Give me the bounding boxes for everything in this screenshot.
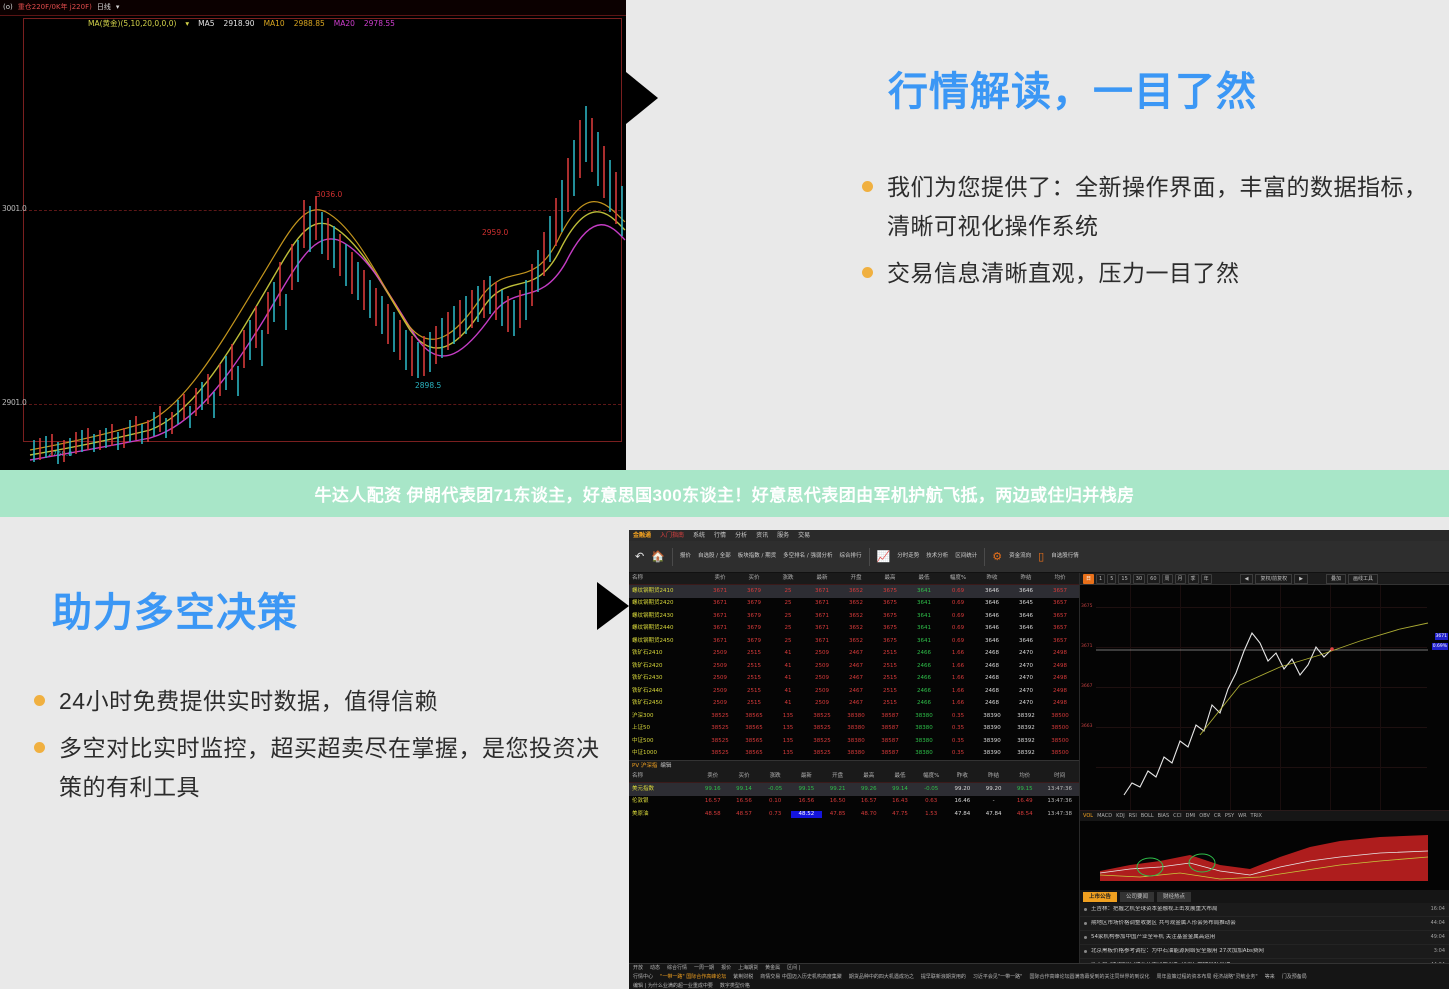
nav-next-icon[interactable]: ▶ bbox=[1294, 574, 1308, 584]
news-title[interactable]: 王吉林：把握之机全球资本金融视上击发展重大布局 bbox=[1091, 906, 1431, 913]
cell: 2515 bbox=[737, 663, 771, 670]
chart-news-panel[interactable]: 日15153060周月季年 ◀ 复权/前复权 ▶ 叠加 画线工具 3675 bbox=[1079, 573, 1449, 989]
cell: 3641 bbox=[907, 613, 941, 620]
cell: 0.35 bbox=[941, 713, 975, 720]
timeframe-button[interactable]: 周 bbox=[1162, 574, 1173, 584]
col-last: 最新 bbox=[791, 773, 822, 780]
cell: 13:47:36 bbox=[1040, 798, 1079, 805]
cell: 99.26 bbox=[853, 786, 884, 793]
flask-icon[interactable]: ⚙ bbox=[992, 551, 1002, 562]
cell: 41 bbox=[771, 700, 805, 707]
cell: 48.70 bbox=[853, 811, 884, 818]
col-prevsettle: 昨结 bbox=[978, 773, 1009, 780]
menu-item-trade[interactable]: 交易 bbox=[798, 532, 810, 540]
cell: 25 bbox=[771, 638, 805, 645]
cell: 3671 bbox=[805, 600, 839, 607]
row-name: 沪深300 bbox=[629, 713, 703, 720]
cell: 48.54 bbox=[1009, 811, 1040, 818]
timeframe-button[interactable]: 60 bbox=[1147, 574, 1159, 584]
status-row-3: 编辑 | 为什么业满的超一业重成中要数字类型价格 bbox=[629, 982, 1449, 989]
list-item[interactable]: 期地区市场价格调整收据区 共与观金属人形会务布局推动会44:04 bbox=[1080, 917, 1449, 931]
ma10-name: MA10 bbox=[264, 19, 285, 28]
cell: 135 bbox=[771, 738, 805, 745]
cell: 16.56 bbox=[728, 798, 759, 805]
cell: 2468 bbox=[975, 688, 1009, 695]
table-row[interactable]: 铁矿石2420250925154125092467251524661.66246… bbox=[629, 660, 1079, 673]
status-text: 等来 bbox=[1265, 974, 1275, 981]
cell: 3671 bbox=[703, 600, 737, 607]
quotes-sub-tabs[interactable]: PV 沪深指 编辑 bbox=[629, 760, 1079, 771]
col-avg[interactable]: 均价 bbox=[1043, 575, 1077, 582]
cell: 38587 bbox=[873, 725, 907, 732]
toolbar-technical-button[interactable]: 技术分析 bbox=[926, 553, 948, 560]
cell: 0.69 bbox=[941, 600, 975, 607]
cell: 38525 bbox=[703, 713, 737, 720]
trading-terminal-screenshot[interactable]: 金融通 入门指南 系统 行情 分析 资讯 服务 交易 ↶ 🏠 报价 自选股 / … bbox=[629, 530, 1449, 989]
row-name: 铁矿石2440 bbox=[629, 688, 703, 695]
status-text: 开放 bbox=[633, 965, 643, 972]
cell: 2509 bbox=[805, 700, 839, 707]
cell: 3652 bbox=[839, 600, 873, 607]
cell: 2466 bbox=[907, 663, 941, 670]
timeframe-button[interactable]: 30 bbox=[1133, 574, 1145, 584]
cell: 3657 bbox=[1043, 613, 1077, 620]
table-row[interactable]: 中证10003852538565135385253838038587383800… bbox=[629, 748, 1079, 761]
chevron-down-icon[interactable]: ▾ bbox=[185, 19, 189, 28]
status-text: 行情中心 bbox=[633, 974, 653, 981]
cell: 99.14 bbox=[728, 786, 759, 793]
news-title[interactable]: 北京黑板价格参考调控：为中石油能源网络安全服用 27次加加Abs费网 bbox=[1091, 948, 1434, 955]
cell: 38392 bbox=[1009, 738, 1043, 745]
cell: 38390 bbox=[975, 725, 1009, 732]
indicator-tab-bar[interactable]: VOLMACDKDJRSIBOLLBIASCCIDMIOBVCRPSYWRTRI… bbox=[1080, 811, 1449, 821]
news-title[interactable]: 期地区市场价格调整收据区 共与观金属人形会务布局推动会 bbox=[1091, 920, 1431, 927]
home-icon[interactable]: 🏠 bbox=[651, 551, 665, 562]
indicator-tab[interactable]: CCI bbox=[1173, 813, 1181, 820]
status-text: 上海期货 bbox=[738, 965, 758, 972]
cell: 3646 bbox=[975, 600, 1009, 607]
status-text: 报价 bbox=[721, 965, 731, 972]
col-open[interactable]: 开盘 bbox=[839, 575, 873, 582]
banner-text: 牛达人配资 伊朗代表团71东谈主，好意思国300东谈主！好意思代表团由军机护航飞… bbox=[315, 481, 1135, 506]
cell: 48.57 bbox=[728, 811, 759, 818]
slide-page: (o) 重仓220F/0K年 j220F) 日线 ▾ MA(黄金)(5,10,2… bbox=[0, 0, 1449, 989]
cell: 38390 bbox=[975, 750, 1009, 757]
toolbar-watchlist-button[interactable]: 自选股 / 全部 bbox=[698, 553, 731, 560]
news-tab-company[interactable]: 公司要闻 bbox=[1120, 892, 1154, 902]
cell: 3646 bbox=[1009, 625, 1043, 632]
news-time: 3:04 bbox=[1434, 948, 1445, 955]
cell: 38565 bbox=[737, 713, 771, 720]
cell: 99.15 bbox=[1009, 786, 1040, 793]
bottom-bullet-list: 24小时免费提供实时数据，值得信赖 多空对比实时监控，超买超卖尽在掌握，是您投资… bbox=[34, 682, 604, 815]
cell: 2509 bbox=[805, 688, 839, 695]
cell: 1.66 bbox=[941, 675, 975, 682]
toolbar-divider bbox=[984, 548, 985, 566]
ma20-name: MA20 bbox=[334, 19, 355, 28]
cell: 3675 bbox=[873, 600, 907, 607]
news-time: 49:04 bbox=[1431, 934, 1445, 941]
table-row[interactable]: 伦敦银16.5716.560.1016.5616.5016.5716.430.6… bbox=[629, 796, 1079, 809]
bullet-text: 交易信息清晰直观，压力一目了然 bbox=[887, 254, 1240, 293]
indicator-tabs[interactable]: VOLMACDKDJRSIBOLLBIASCCIDMIOBVCRPSYWRTRI… bbox=[1083, 813, 1262, 820]
status-text: 提早联新浪期货用的 bbox=[921, 974, 966, 981]
cell: 47.84 bbox=[947, 811, 978, 818]
indicator-tab[interactable]: PSY bbox=[1225, 813, 1234, 820]
cell: 3657 bbox=[1043, 625, 1077, 632]
row-name: 螺纹钢期货2440 bbox=[629, 625, 703, 632]
menu-item-service[interactable]: 服务 bbox=[777, 532, 789, 540]
indicator-tab[interactable]: BIAS bbox=[1158, 813, 1170, 820]
table-row[interactable]: 铁矿石2410250925154125092467251524661.66246… bbox=[629, 648, 1079, 661]
col-bid: 买价 bbox=[728, 773, 759, 780]
cell: 3675 bbox=[873, 613, 907, 620]
row-name: 铁矿石2450 bbox=[629, 700, 703, 707]
cell: 3671 bbox=[805, 613, 839, 620]
news-title[interactable]: 54家机构参加中国产业全年机 关注基金金属高运用 bbox=[1091, 934, 1431, 941]
cell: 2509 bbox=[703, 650, 737, 657]
cell: 13:47:38 bbox=[1040, 811, 1079, 818]
cell: -0.05 bbox=[916, 786, 947, 793]
list-item: 多空对比实时监控，超买超卖尽在掌握，是您投资决策的有利工具 bbox=[34, 729, 604, 807]
cell: 3671 bbox=[703, 625, 737, 632]
ma20-value: 2978.55 bbox=[364, 19, 395, 28]
cell: 3646 bbox=[1009, 588, 1043, 595]
drawing-tools-button[interactable]: 画线工具 bbox=[1348, 574, 1378, 584]
terminal-menubar[interactable]: 金融通 入门指南 系统 行情 分析 资讯 服务 交易 bbox=[629, 530, 1449, 541]
cell: 2515 bbox=[737, 700, 771, 707]
bullet-text: 24小时免费提供实时数据，值得信赖 bbox=[59, 682, 438, 721]
indicator-tab[interactable]: KDJ bbox=[1116, 813, 1125, 820]
toolbar-sector-button[interactable]: 板块指数 / 期货 bbox=[738, 553, 776, 560]
timeframe-button[interactable]: 1 bbox=[1096, 574, 1105, 584]
cell: 25 bbox=[771, 588, 805, 595]
row-name: 美原油 bbox=[629, 811, 697, 818]
cell: 13:47:36 bbox=[1040, 786, 1079, 793]
cell: 41 bbox=[771, 650, 805, 657]
list-item[interactable]: 北京黑板价格参考调控：为中石油能源网络安全服用 27次加加Abs费网3:04 bbox=[1080, 945, 1449, 959]
cell: 25 bbox=[771, 600, 805, 607]
cell: 135 bbox=[771, 725, 805, 732]
table-row[interactable]: 螺纹钢期货2420367136792536713652367536410.693… bbox=[629, 598, 1079, 611]
col-prevsettle[interactable]: 昨结 bbox=[1009, 575, 1043, 582]
menu-item-news[interactable]: 资讯 bbox=[756, 532, 768, 540]
timeframe-buttons[interactable]: 日15153060周月季年 bbox=[1083, 574, 1212, 584]
undo-icon[interactable]: ↶ bbox=[635, 551, 644, 562]
list-item[interactable]: 王吉林：把握之机全球资本金融视上击发展重大布局16:04 bbox=[1080, 903, 1449, 917]
cell: 3679 bbox=[737, 588, 771, 595]
row-name: 铁矿石2420 bbox=[629, 663, 703, 670]
col-avg: 均价 bbox=[1009, 773, 1040, 780]
toolbar-statistics-button[interactable]: 区间统计 bbox=[955, 553, 977, 560]
table-row[interactable]: 铁矿石2450250925154125092467251524661.66246… bbox=[629, 698, 1079, 711]
row-name: 中证500 bbox=[629, 738, 703, 745]
row-name: 中证1000 bbox=[629, 750, 703, 757]
indicator-panel[interactable]: VOLMACDKDJRSIBOLLBIASCCIDMIOBVCRPSYWRTRI… bbox=[1080, 810, 1449, 890]
cell: 38525 bbox=[805, 725, 839, 732]
terminal-body: 名称 卖价 买价 涨跌 最新 开盘 最高 最低 幅度% 昨收 昨结 均价 螺纹钢… bbox=[629, 573, 1449, 989]
adjust-label[interactable]: 复权/前复权 bbox=[1255, 574, 1292, 584]
cell: 3645 bbox=[1009, 600, 1043, 607]
chart-icon[interactable]: 📈 bbox=[877, 551, 891, 562]
mini-kline-chart[interactable]: 3675 3671 3667 3663 3671 0.69% bbox=[1080, 585, 1449, 810]
cell: 3671 bbox=[703, 588, 737, 595]
timeframe-button[interactable]: 季 bbox=[1188, 574, 1199, 584]
cell: 38500 bbox=[1043, 713, 1077, 720]
toolbar-ranking-button[interactable]: 多空排名 / 强弱分析 bbox=[783, 553, 832, 560]
cell: 1.66 bbox=[941, 688, 975, 695]
indicator-tab[interactable]: CR bbox=[1214, 813, 1221, 820]
table-row[interactable]: 螺纹钢期货2410367136792536713652367536410.693… bbox=[629, 585, 1079, 598]
cell: 38525 bbox=[805, 738, 839, 745]
cell: 38525 bbox=[703, 725, 737, 732]
cell: 38380 bbox=[839, 725, 873, 732]
col-pct: 幅度% bbox=[916, 773, 947, 780]
col-pct[interactable]: 幅度% bbox=[941, 575, 975, 582]
candlestick-series bbox=[0, 0, 626, 470]
mini-price-line bbox=[1080, 585, 1449, 810]
cell: 3671 bbox=[703, 638, 737, 645]
news-tab-announcements[interactable]: 上市公告 bbox=[1083, 892, 1117, 902]
cell: 38525 bbox=[805, 713, 839, 720]
cell: 2515 bbox=[873, 663, 907, 670]
cell: 2467 bbox=[839, 663, 873, 670]
cell: 3652 bbox=[839, 625, 873, 632]
cell: 16.56 bbox=[791, 798, 822, 805]
cell: 2509 bbox=[805, 675, 839, 682]
table-row[interactable]: 沪深3003852538565135385253838038587383800.… bbox=[629, 710, 1079, 723]
col-high: 最高 bbox=[853, 773, 884, 780]
overlay-button[interactable]: 叠加 bbox=[1326, 574, 1346, 584]
cell: 2470 bbox=[1009, 675, 1043, 682]
terminal-toolbar[interactable]: ↶ 🏠 报价 自选股 / 全部 板块指数 / 期货 多空排名 / 强弱分析 综合… bbox=[629, 541, 1449, 573]
news-tab-hot[interactable]: 财经热点 bbox=[1157, 892, 1191, 902]
cell: 38380 bbox=[839, 750, 873, 757]
cell: 38587 bbox=[873, 750, 907, 757]
cell: 2498 bbox=[1043, 650, 1077, 657]
cell: 2515 bbox=[873, 650, 907, 657]
ma5-name: MA5 bbox=[198, 19, 214, 28]
indicator-tab[interactable]: BOLL bbox=[1141, 813, 1154, 820]
timeframe-button[interactable]: 年 bbox=[1201, 574, 1212, 584]
cell: 38565 bbox=[737, 738, 771, 745]
cell: -0.05 bbox=[760, 786, 791, 793]
cell: 38380 bbox=[839, 738, 873, 745]
status-text: 一周一期 bbox=[694, 965, 714, 972]
toolbar-quote-button[interactable]: 报价 bbox=[680, 553, 691, 560]
status-text: 习近平会见"一带一路" bbox=[973, 974, 1023, 981]
cell: 41 bbox=[771, 675, 805, 682]
quotes-table-body: 螺纹钢期货2410367136792536713652367536410.693… bbox=[629, 585, 1079, 760]
daily-kline-chart[interactable]: (o) 重仓220F/0K年 j220F) 日线 ▾ MA(黄金)(5,10,2… bbox=[0, 0, 626, 470]
cell: 3646 bbox=[975, 638, 1009, 645]
cell: 38380 bbox=[907, 725, 941, 732]
indicator-tab[interactable]: VOL bbox=[1083, 813, 1093, 820]
table-row[interactable]: 中证5003852538565135385253838038587383800.… bbox=[629, 735, 1079, 748]
indicator-tab[interactable]: DMI bbox=[1186, 813, 1196, 820]
news-banner[interactable]: 牛达人配资 伊朗代表团71东谈主，好意思国300东谈主！好意思代表团由军机护航飞… bbox=[0, 470, 1449, 517]
timeframe-button[interactable]: 月 bbox=[1175, 574, 1186, 584]
toolbar-综合排行-button[interactable]: 综合排行 bbox=[840, 553, 862, 560]
ma10-value: 2988.85 bbox=[294, 19, 325, 28]
cell: 0.69 bbox=[941, 625, 975, 632]
cell: 3641 bbox=[907, 625, 941, 632]
news-tab-bar[interactable]: 上市公告 公司要闻 财经热点 bbox=[1080, 890, 1449, 903]
cell: 3646 bbox=[975, 625, 1009, 632]
ma-indicator-label[interactable]: MA(黄金)(5,10,20,0,0,0) bbox=[88, 19, 176, 28]
sub-tab-pv[interactable]: PV 沪深指 bbox=[632, 763, 657, 770]
bullet-dot-icon bbox=[1084, 936, 1087, 939]
news-time: 16:04 bbox=[1431, 906, 1445, 913]
cell: 38525 bbox=[703, 750, 737, 757]
col-prevclose[interactable]: 昨收 bbox=[975, 575, 1009, 582]
cell: 2466 bbox=[907, 700, 941, 707]
pointer-triangle-icon bbox=[626, 72, 658, 124]
status-text: 期货品种中的四大机遇成功之 bbox=[849, 974, 914, 981]
cell: 3657 bbox=[1043, 588, 1077, 595]
cell: 47.84 bbox=[978, 811, 1009, 818]
cell: 38380 bbox=[907, 738, 941, 745]
cell: 3652 bbox=[839, 638, 873, 645]
cell: 0.69 bbox=[941, 613, 975, 620]
cell: 16.49 bbox=[1009, 798, 1040, 805]
status-text: 商情交易 中国迈入历史机构高度集聚 bbox=[760, 974, 842, 981]
indicator-tab[interactable]: TRIX bbox=[1251, 813, 1262, 820]
list-item: 交易信息清晰直观，压力一目了然 bbox=[862, 254, 1442, 293]
toolbar-divider bbox=[672, 548, 673, 566]
cell: 3671 bbox=[805, 638, 839, 645]
terminal-status-bar: 开放动态综合行情一周一期报价上海期货黄金属区间 | 行情中心"一带一路" 国际合… bbox=[629, 963, 1449, 989]
macd-histogram bbox=[1080, 821, 1449, 887]
cell: 38380 bbox=[907, 750, 941, 757]
cell: 2498 bbox=[1043, 688, 1077, 695]
cell: 2468 bbox=[975, 650, 1009, 657]
menu-brand: 金融通 bbox=[633, 532, 651, 540]
cell: 41 bbox=[771, 663, 805, 670]
status-text: 国际合作高峰论坛圆满落幕受到的关注同世界的到议化 bbox=[1029, 974, 1149, 981]
cell: 16.57 bbox=[697, 798, 728, 805]
cell: 2468 bbox=[975, 700, 1009, 707]
status-text: 紫荆财税 bbox=[733, 974, 753, 981]
indicator-tab[interactable]: RSI bbox=[1129, 813, 1137, 820]
table-row[interactable]: 螺纹钢期货2440367136792536713652367536410.693… bbox=[629, 623, 1079, 636]
cell: 47.85 bbox=[822, 811, 853, 818]
cell: 3675 bbox=[873, 588, 907, 595]
bottom-table-body: 美元指数99.1699.14-0.0599.1599.2199.2699.14-… bbox=[629, 783, 1079, 821]
cell: 38525 bbox=[805, 750, 839, 757]
toolbar-timeline-button[interactable]: 分时走势 bbox=[897, 553, 919, 560]
timeframe-button[interactable]: 5 bbox=[1107, 574, 1116, 584]
col-name: 名称 bbox=[629, 575, 703, 582]
menu-item-guide[interactable]: 入门指南 bbox=[660, 532, 684, 540]
table-row[interactable]: 螺纹钢期货2430367136792536713652367536410.693… bbox=[629, 610, 1079, 623]
menu-item-analysis[interactable]: 分析 bbox=[735, 532, 747, 540]
indicator-tab[interactable]: MACD bbox=[1097, 813, 1112, 820]
cell: 38587 bbox=[873, 713, 907, 720]
row-name: 螺纹钢期货2410 bbox=[629, 588, 703, 595]
cell: 2466 bbox=[907, 675, 941, 682]
col-last[interactable]: 最新 bbox=[805, 575, 839, 582]
menu-item-quotes[interactable]: 行情 bbox=[714, 532, 726, 540]
status-text: 编辑 | 为什么业满的超一业重成中要 bbox=[633, 983, 713, 989]
sub-tab-edit[interactable]: 编辑 bbox=[660, 763, 671, 770]
cell: 3675 bbox=[873, 638, 907, 645]
row-name: 螺纹钢期货2430 bbox=[629, 613, 703, 620]
indicator-tab[interactable]: OBV bbox=[1199, 813, 1210, 820]
indicator-tab[interactable]: WR bbox=[1238, 813, 1246, 820]
table-row[interactable]: 铁矿石2430250925154125092467251524661.66246… bbox=[629, 673, 1079, 686]
timeframe-button[interactable]: 日 bbox=[1083, 574, 1094, 584]
cell: 38380 bbox=[839, 713, 873, 720]
col-open: 开盘 bbox=[822, 773, 853, 780]
status-row-2: 行情中心"一带一路" 国际合作高峰论坛紫荆财税商情交易 中国迈入历史机构高度集聚… bbox=[629, 973, 1449, 982]
nav-prev-icon[interactable]: ◀ bbox=[1240, 574, 1254, 584]
timeframe-bar[interactable]: 日15153060周月季年 ◀ 复权/前复权 ▶ 叠加 画线工具 bbox=[1080, 573, 1449, 585]
status-text: 综合行情 bbox=[667, 965, 687, 972]
toolbar-divider bbox=[869, 548, 870, 566]
cell: 0.35 bbox=[941, 725, 975, 732]
bullet-dot-icon bbox=[1084, 922, 1087, 925]
cell: 16.57 bbox=[853, 798, 884, 805]
cell: 2515 bbox=[873, 700, 907, 707]
toolbar-fundflow-button[interactable]: 资金流向 bbox=[1009, 553, 1031, 560]
table-row[interactable]: 螺纹钢期货2450367136792536713652367536410.693… bbox=[629, 635, 1079, 648]
menu-item-system[interactable]: 系统 bbox=[693, 532, 705, 540]
list-item[interactable]: 54家机构参加中国产业全年机 关注基金金属高运用49:04 bbox=[1080, 931, 1449, 945]
col-change[interactable]: 涨跌 bbox=[771, 575, 805, 582]
col-bid[interactable]: 买价 bbox=[737, 575, 771, 582]
table-row[interactable]: 美原油48.5848.570.7348.5247.8548.7047.751.5… bbox=[629, 808, 1079, 821]
row-name: 螺纹钢期货2450 bbox=[629, 638, 703, 645]
cell: 16.46 bbox=[947, 798, 978, 805]
cell: 38392 bbox=[1009, 713, 1043, 720]
cell: 2509 bbox=[805, 663, 839, 670]
table-row[interactable]: 铁矿石2440250925154125092467251524661.66246… bbox=[629, 685, 1079, 698]
cell: 0.10 bbox=[760, 798, 791, 805]
cell: 2470 bbox=[1009, 688, 1043, 695]
cell: 38390 bbox=[975, 738, 1009, 745]
quotes-table-panel[interactable]: 名称 卖价 买价 涨跌 最新 开盘 最高 最低 幅度% 昨收 昨结 均价 螺纹钢… bbox=[629, 573, 1079, 989]
cell: 0.35 bbox=[941, 750, 975, 757]
cell: 3671 bbox=[805, 588, 839, 595]
timeframe-button[interactable]: 15 bbox=[1118, 574, 1130, 584]
toolbar-watch-quote-button[interactable]: 自选股行情 bbox=[1051, 553, 1079, 560]
cell: 3641 bbox=[907, 638, 941, 645]
cell: 99.20 bbox=[978, 786, 1009, 793]
col-ask[interactable]: 卖价 bbox=[703, 575, 737, 582]
top-section: (o) 重仓220F/0K年 j220F) 日线 ▾ MA(黄金)(5,10,2… bbox=[0, 0, 1449, 470]
cell: 2468 bbox=[975, 663, 1009, 670]
row-name: 螺纹钢期货2420 bbox=[629, 600, 703, 607]
table-row[interactable]: 美元指数99.1699.14-0.0599.1599.2199.2699.14-… bbox=[629, 783, 1079, 796]
cell: 2466 bbox=[907, 650, 941, 657]
table-row[interactable]: 上证503852538565135385253838038587383800.3… bbox=[629, 723, 1079, 736]
monitor-icon[interactable]: ▯ bbox=[1038, 551, 1044, 562]
col-low[interactable]: 最低 bbox=[907, 575, 941, 582]
cell: 16.43 bbox=[884, 798, 915, 805]
cell: 3652 bbox=[839, 588, 873, 595]
col-high[interactable]: 最高 bbox=[873, 575, 907, 582]
row-name: 铁矿石2410 bbox=[629, 650, 703, 657]
cell: 3657 bbox=[1043, 638, 1077, 645]
status-text: 黄金属 bbox=[765, 965, 780, 972]
col-time: 时间 bbox=[1040, 773, 1079, 780]
cell: 0.69 bbox=[941, 588, 975, 595]
cell: 3675 bbox=[873, 625, 907, 632]
cell: 99.21 bbox=[822, 786, 853, 793]
top-bullet-list: 我们为您提供了：全新操作界面，丰富的数据指标，清晰可视化操作系统 交易信息清晰直… bbox=[862, 168, 1442, 301]
cell: 2467 bbox=[839, 700, 873, 707]
